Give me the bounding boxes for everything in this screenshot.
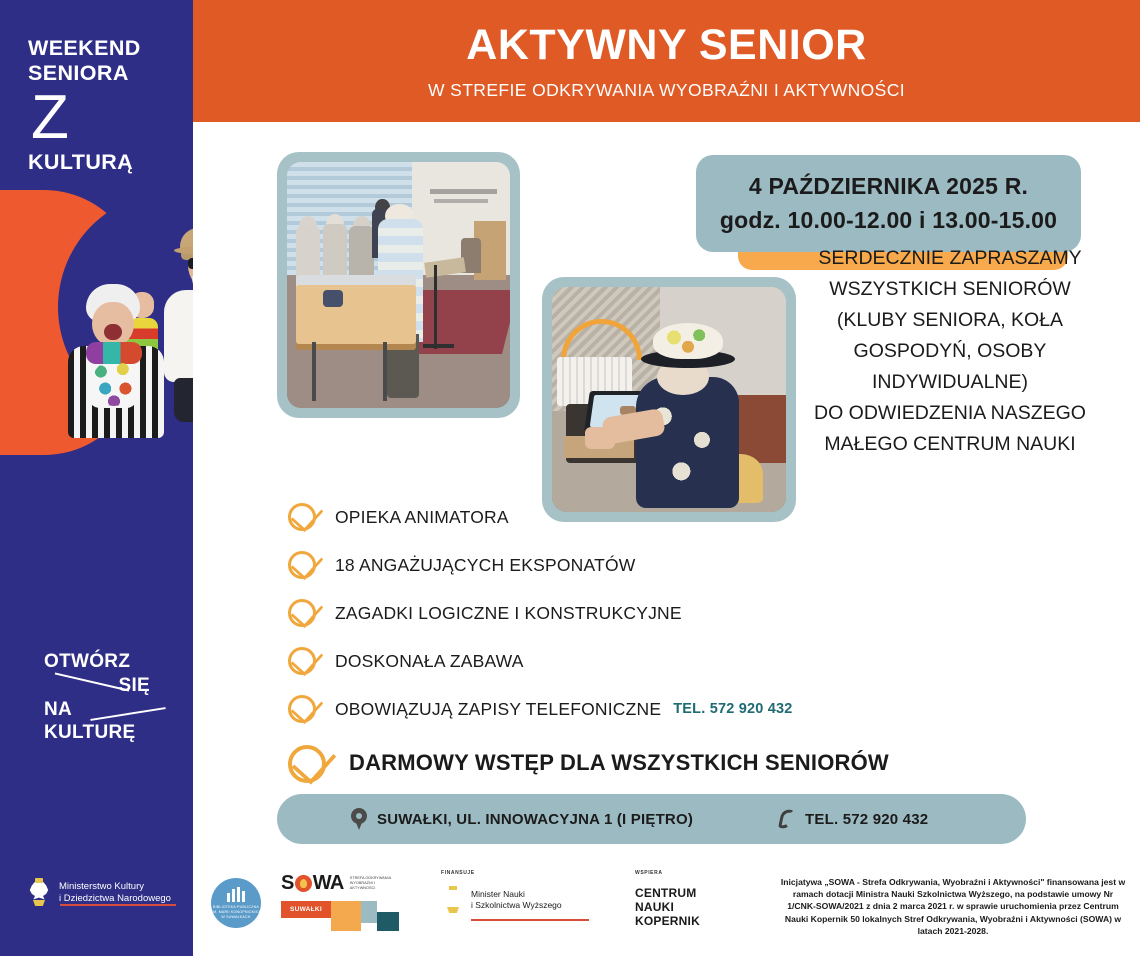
page-subtitle: W STREFIE ODKRYWANIA WYOBRAŹNI I AKTYWNO… <box>193 80 1140 101</box>
list-item-highlight: DARMOWY WSTĘP DLA WSZYSTKICH SENIORÓW <box>287 740 907 786</box>
seniors-photo-collage <box>46 196 193 436</box>
photo1-exhibit-table <box>296 285 416 344</box>
invitation-line: DO ODWIEDZENIA NASZEGO <box>800 398 1100 429</box>
photo1-table-leg-2 <box>383 342 387 401</box>
contact-bar: SUWAŁKI, UL. INNOWACYJNA 1 (I PIĘTRO) TE… <box>277 794 1026 844</box>
wspiera-label: WSPIERA <box>635 870 700 876</box>
photo1-wall-sign-2 <box>434 199 488 203</box>
phone-icon <box>778 808 795 830</box>
check-circle-icon <box>287 500 321 534</box>
polish-eagle-icon <box>441 886 465 914</box>
photo1-stand-base <box>423 344 454 348</box>
ministry-logo-rule <box>60 904 176 906</box>
sowa-block-teal <box>361 901 377 923</box>
booking-phone-number[interactable]: TEL. 572 920 432 <box>673 701 792 717</box>
minister-logo-text: Minister Nauki i Szkolnictwa Wyższego <box>471 889 562 911</box>
ministry-logo-text: Ministerstwo Kultury i Dziedzictwa Narod… <box>59 881 171 905</box>
check-circle-icon <box>287 596 321 630</box>
list-item: 18 ANGAŻUJĄCYCH EKSPONATÓW <box>287 548 907 582</box>
ministry-line-1: Ministerstwo Kultury <box>59 881 171 893</box>
man-sunglasses <box>188 258 193 269</box>
photo1-wall-sign <box>430 189 497 194</box>
phone-text: TEL. 572 920 432 <box>805 811 928 828</box>
free-entry-label: DARMOWY WSTĘP DLA WSZYSTKICH SENIORÓW <box>349 750 889 776</box>
woman-beads <box>92 360 136 406</box>
photo2-floral-hat <box>653 323 723 359</box>
address-text: SUWAŁKI, UL. INNOWACYJNA 1 (I PIĘTRO) <box>377 811 693 828</box>
man-hat-brim <box>174 246 193 255</box>
poster-root: WEEKEND SENIORA Z KULTURĄ <box>0 0 1140 956</box>
motto-line-4: KULTURĘ <box>44 722 193 744</box>
invitation-line: INDYWIDUALNE) <box>800 367 1100 398</box>
centrum-nauki-kopernik-logo: WSPIERA CENTRUM NAUKI KOPERNIK <box>635 870 700 928</box>
brand-z: Z <box>31 88 188 148</box>
photo-exhibition-group <box>277 152 520 418</box>
check-circle-icon <box>287 548 321 582</box>
sowa-block-dark-teal <box>377 912 399 931</box>
features-checklist: OPIEKA ANIMATORA 18 ANGAŻUJĄCYCH EKSPONA… <box>287 500 907 800</box>
header-banner: AKTYWNY SENIOR W STREFIE ODKRYWANIA WYOB… <box>193 0 1140 122</box>
check-circle-icon <box>287 644 321 678</box>
library-bars-icon <box>227 887 245 902</box>
checklist-label: 18 ANGAŻUJĄCYCH EKSPONATÓW <box>335 555 636 576</box>
checklist-label: DOSKONAŁA ZABAWA <box>335 651 524 672</box>
sidebar: WEEKEND SENIORA Z KULTURĄ <box>0 0 193 956</box>
date-time-box: 4 PAŹDZIERNIKA 2025 R. godz. 10.00-12.00… <box>696 155 1081 252</box>
invitation-line: WSZYSTKICH SENIORÓW <box>800 274 1100 305</box>
brand-weekend: WEEKEND <box>28 36 188 61</box>
finansuje-label: FINANSUJE <box>441 870 611 876</box>
minister-logo-rule <box>471 919 589 921</box>
footer-logos: BIBLIOTEKA PUBLICZNA IM. MARII KONOPNICK… <box>193 860 1140 956</box>
sowa-city-label: SUWAŁKI <box>290 906 322 913</box>
checklist-label: OPIEKA ANIMATORA <box>335 507 509 528</box>
sowa-block-amber <box>331 901 361 931</box>
minister-line-2: i Szkolnictwa Wyższego <box>471 900 562 910</box>
polish-eagle-icon <box>26 878 52 908</box>
sowa-city-block: SUWAŁKI <box>281 901 331 918</box>
brand-kultura: KULTURĄ <box>28 150 188 175</box>
check-circle-icon <box>287 740 333 786</box>
sowa-color-blocks: SUWAŁKI <box>281 901 421 931</box>
brand-block: WEEKEND SENIORA Z KULTURĄ <box>28 36 188 175</box>
event-hours: godz. 10.00-12.00 i 13.00-15.00 <box>720 207 1057 234</box>
invitation-text: SERDECZNIE ZAPRASZAMY WSZYSTKICH SENIORÓ… <box>800 243 1100 460</box>
photo1-stand <box>434 265 437 349</box>
motto-block: OTWÓRZ SIĘ NA KULTURĘ <box>44 651 193 744</box>
cnk-line-1: CENTRUM <box>635 886 700 900</box>
minister-line-1: Minister Nauki <box>471 889 525 899</box>
phone-group[interactable]: TEL. 572 920 432 <box>778 808 928 830</box>
list-item: ZAGADKI LOGICZNE I KONSTRUKCYJNE <box>287 596 907 630</box>
senior-woman-illustration <box>62 284 180 434</box>
cnk-line-3: KOPERNIK <box>635 914 700 928</box>
list-item: DOSKONAŁA ZABAWA <box>287 644 907 678</box>
biblioteka-publiczna-logo: BIBLIOTEKA PUBLICZNA IM. MARII KONOPNICK… <box>211 878 261 928</box>
cnk-wordmark: CENTRUM NAUKI KOPERNIK <box>635 886 700 928</box>
cnk-line-2: NAUKI <box>635 900 700 914</box>
motto-line-2: SIĘ <box>44 675 193 697</box>
page-title: AKTYWNY SENIOR <box>193 21 1140 69</box>
address-group[interactable]: SUWAŁKI, UL. INNOWACYJNA 1 (I PIĘTRO) <box>351 808 693 830</box>
event-date: 4 PAŹDZIERNIKA 2025 R. <box>749 173 1028 200</box>
checklist-label: ZAGADKI LOGICZNE I KONSTRUKCYJNE <box>335 603 682 624</box>
owl-eye-icon <box>295 875 312 892</box>
sowa-letters-wa: WA <box>313 872 344 895</box>
checklist-label: OBOWIĄZUJĄ ZAPISY TELEFONICZNE <box>335 699 661 720</box>
invitation-line: (KLUBY SENIORA, KOŁA <box>800 305 1100 336</box>
motto-line-1: OTWÓRZ <box>44 651 193 673</box>
motto-line-3: NA <box>44 699 193 721</box>
photo2-person-hand <box>585 427 615 450</box>
check-circle-icon <box>287 692 321 726</box>
list-item: OPIEKA ANIMATORA <box>287 500 907 534</box>
photo-touchscreen-senior <box>542 277 796 522</box>
funding-note: Inicjatywa „SOWA - Strefa Odkrywania, Wy… <box>778 876 1128 937</box>
woman-mouth <box>104 324 122 340</box>
photo1-exhibit-bowl <box>323 290 343 307</box>
minister-nauki-logo: FINANSUJE Minister Nauki i Szkolnictwa W… <box>441 870 611 921</box>
list-item: OBOWIĄZUJĄ ZAPISY TELEFONICZNE TEL. 572 … <box>287 692 907 726</box>
sowa-logo: S WA STREFA ODKRYWANIA WYOBRAŹNI I AKTYW… <box>281 872 421 931</box>
biblioteka-logo-text: BIBLIOTEKA PUBLICZNA IM. MARII KONOPNICK… <box>211 905 261 920</box>
invitation-line: SERDECZNIE ZAPRASZAMY <box>800 243 1100 274</box>
invitation-line: GOSPODYŃ, OSOBY <box>800 336 1100 367</box>
photo2-person-body <box>636 377 739 508</box>
sowa-wordmark: S WA STREFA ODKRYWANIA WYOBRAŹNI I AKTYW… <box>281 872 421 895</box>
photo1-table-leg-1 <box>312 342 316 401</box>
invitation-line: MAŁEGO CENTRUM NAUKI <box>800 429 1100 460</box>
location-pin-icon <box>351 808 367 830</box>
sowa-letter-s: S <box>281 872 294 895</box>
sowa-tagline: STREFA ODKRYWANIA WYOBRAŹNI I AKTYWNOŚCI <box>350 876 396 891</box>
